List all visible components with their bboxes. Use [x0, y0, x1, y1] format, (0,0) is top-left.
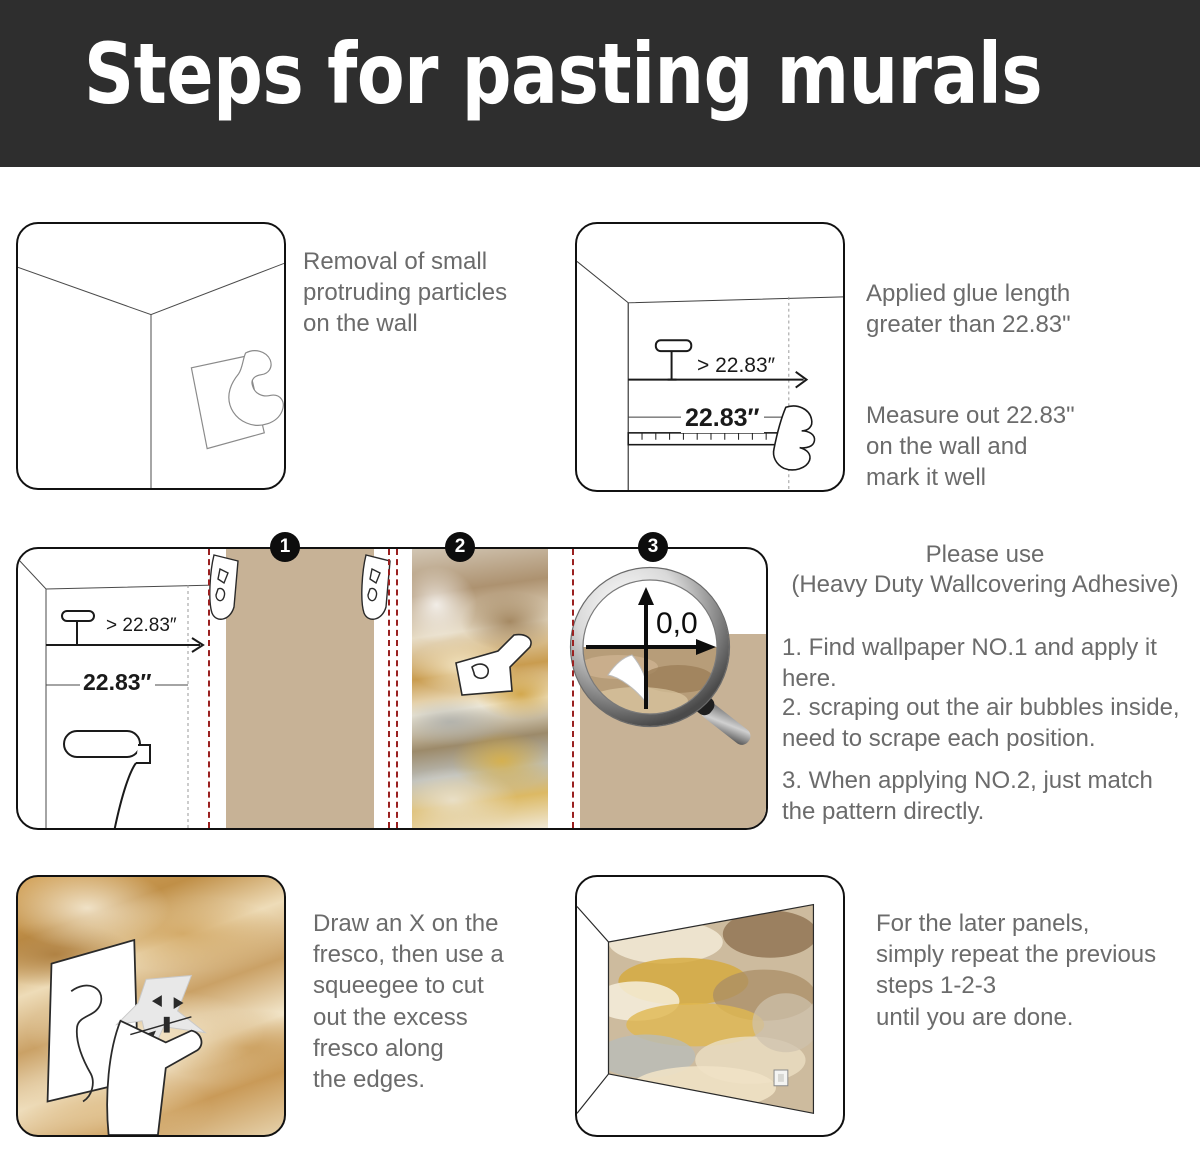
- note-item-2: 2. scraping out the air bubbles inside, …: [782, 692, 1182, 754]
- header-bar: Steps for pasting murals: [0, 0, 1200, 167]
- origin-label-text: 0,0: [656, 607, 698, 640]
- badge-step-3: 3: [638, 532, 668, 562]
- guide-line-2: [388, 549, 390, 828]
- hand-with-squeegee-strip-2: [452, 633, 544, 705]
- light-switch-icon: [774, 1070, 788, 1086]
- label-measure-step2: 22.83″: [681, 404, 764, 433]
- note-item-1: 1. Find wallpaper NO.1 and apply it here…: [782, 632, 1192, 694]
- guide-line-3: [396, 549, 398, 828]
- caption-step2-measure: Measure out 22.83" on the wall and mark …: [866, 400, 1156, 494]
- guide-line-4: [572, 549, 574, 828]
- note-item-3: 3. When applying NO.2, just match the pa…: [782, 765, 1182, 827]
- caption-step1: Removal of small protruding particles on…: [303, 246, 553, 340]
- caption-step4: Draw an X on the fresco, then use a sque…: [313, 908, 553, 1095]
- label-glue-length-step3: > 22.83″: [106, 615, 177, 637]
- finished-wall-illustration: [577, 877, 843, 1135]
- caption-step2-glue: Applied glue length greater than 22.83": [866, 278, 1146, 340]
- badge-step-1: 1: [270, 532, 300, 562]
- panel-step4: [16, 875, 286, 1137]
- cut-outlet-illustration: [18, 877, 284, 1135]
- infographic-root: Steps for pasting murals Removal of smal…: [0, 0, 1200, 1152]
- panel-step5: [575, 875, 845, 1137]
- label-glue-length-step2: > 22.83″: [697, 354, 775, 378]
- room-corner-illustration: [18, 224, 284, 488]
- label-measure-step3: 22.83″: [80, 669, 155, 696]
- notes-subtitle: (Heavy Duty Wallcovering Adhesive): [775, 570, 1195, 601]
- badge-step-2: 2: [445, 532, 475, 562]
- panel-step3: > 22.83″ 22.83″: [16, 547, 768, 830]
- caption-step5: For the later panels, simply repeat the …: [876, 908, 1196, 1033]
- panel-step2: > 22.83″ 22.83″: [575, 222, 845, 492]
- page-title: Steps for pasting murals: [84, 30, 1042, 118]
- magnifier-with-origin-axes: 0,0: [558, 559, 768, 759]
- notes-title: Please use: [785, 540, 1185, 571]
- guide-line-1: [208, 549, 210, 828]
- panel-step1: [16, 222, 286, 490]
- hand-holding-strip-1-left: [204, 549, 250, 629]
